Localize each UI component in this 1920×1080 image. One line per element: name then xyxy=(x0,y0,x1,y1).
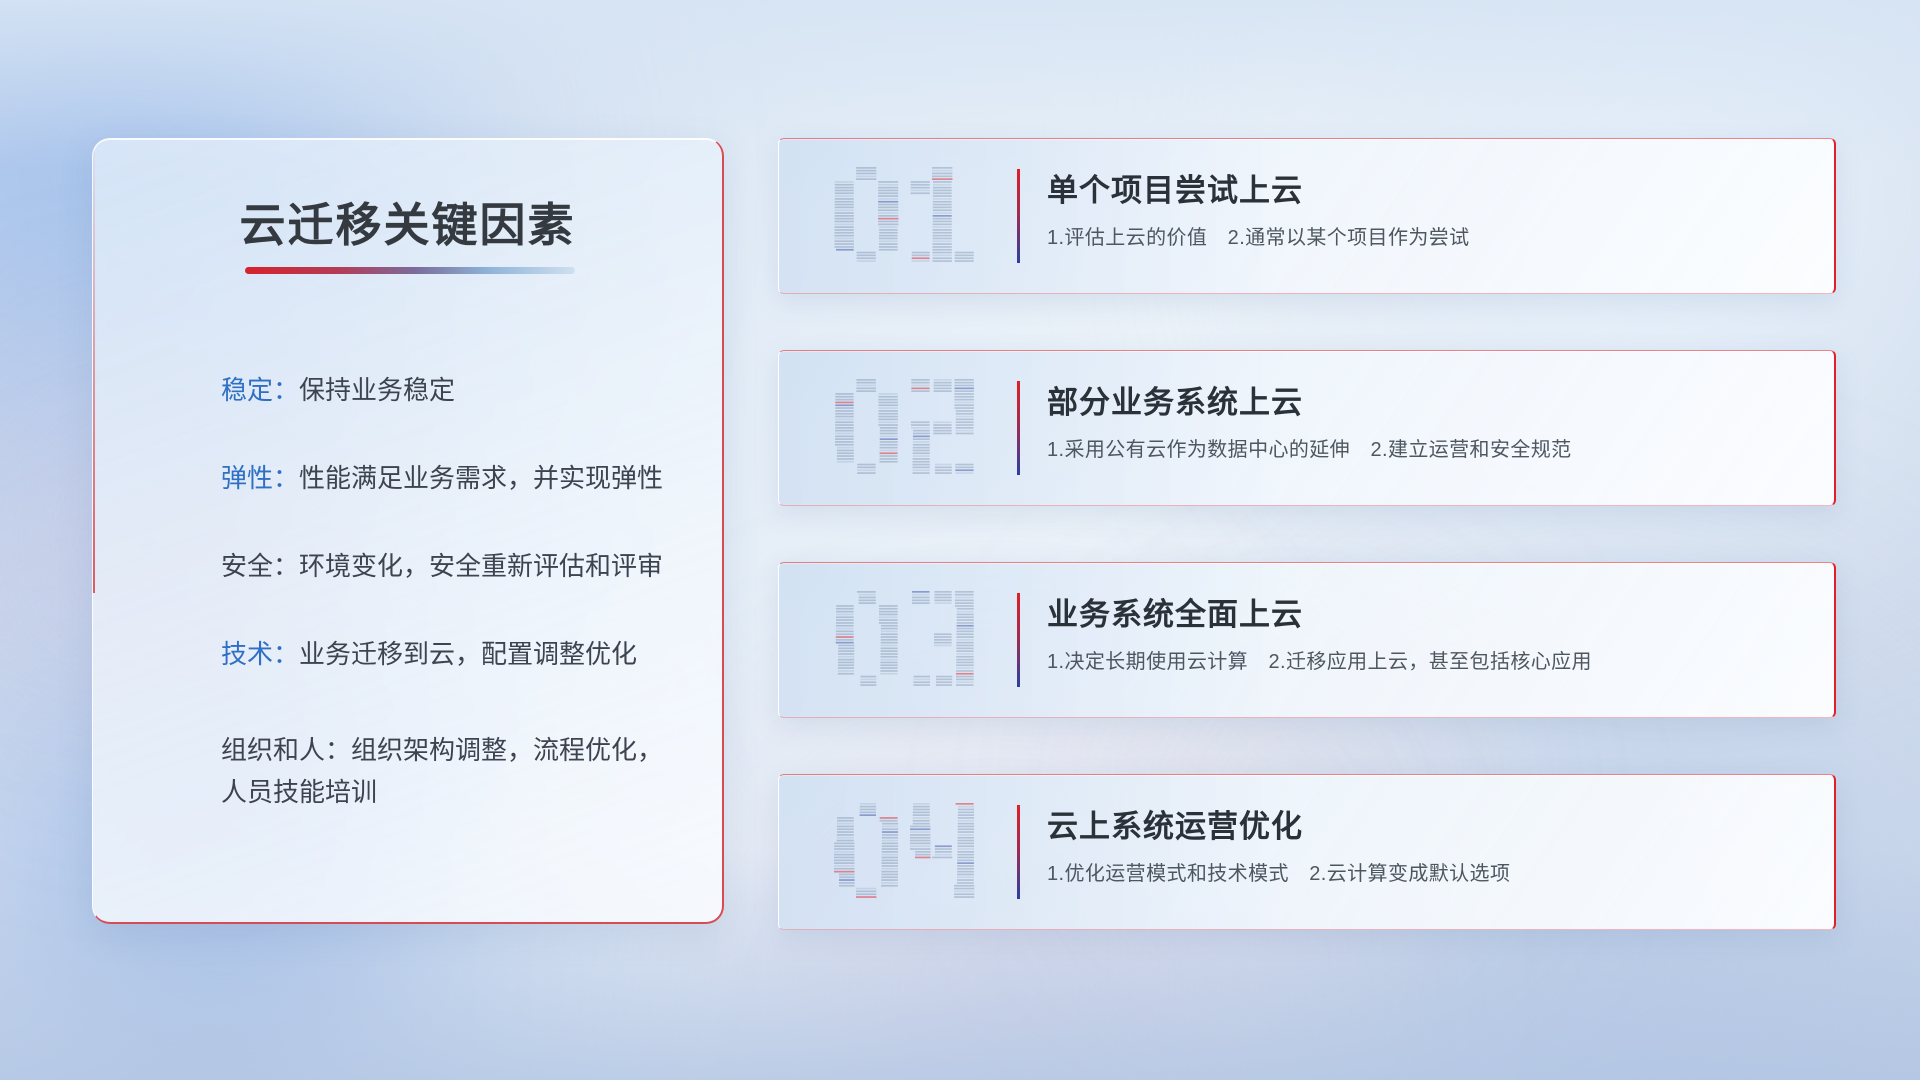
card-title: 业务系统全面上云 xyxy=(1047,597,1804,633)
key-factor-label: 技术： xyxy=(221,639,299,669)
card-title: 云上系统运营优化 xyxy=(1047,809,1804,845)
key-factor-item: 安全：环境变化，安全重新评估和评审 xyxy=(221,553,682,579)
card-body: 部分业务系统上云 1.采用公有云作为数据中心的延伸 2.建立运营和安全规范 xyxy=(1047,385,1804,463)
key-factor-item: 稳定：保持业务稳定 xyxy=(221,377,682,403)
slide-stage: 云迁移关键因素 稳定：保持业务稳定弹性：性能满足业务需求，并实现弹性安全：环境变… xyxy=(0,0,1920,1080)
key-factor-text: 性能满足业务需求，并实现弹性 xyxy=(299,463,663,493)
number-01-glyph xyxy=(815,161,995,271)
key-factor-text: 环境变化，安全重新评估和评审 xyxy=(299,551,663,581)
number-02-glyph xyxy=(815,373,995,483)
stage-card[interactable]: 部分业务系统上云 1.采用公有云作为数据中心的延伸 2.建立运营和安全规范 xyxy=(778,350,1836,506)
card-body: 云上系统运营优化 1.优化运营模式和技术模式 2.云计算变成默认选项 xyxy=(1047,809,1804,887)
key-factor-label: 组织和人： xyxy=(221,735,351,765)
card-body: 业务系统全面上云 1.决定长期使用云计算 2.迁移应用上云，甚至包括核心应用 xyxy=(1047,597,1804,675)
card-title: 部分业务系统上云 xyxy=(1047,385,1804,421)
number-03-glyph xyxy=(815,585,995,695)
card-accent-divider xyxy=(1017,169,1020,263)
card-body: 单个项目尝试上云 1.评估上云的价值 2.通常以某个项目作为尝试 xyxy=(1047,173,1804,251)
key-factor-label: 稳定： xyxy=(221,375,299,405)
key-factor-label: 安全： xyxy=(221,551,299,581)
stage-number-watermark xyxy=(815,797,995,907)
key-factor-item: 弹性：性能满足业务需求，并实现弹性 xyxy=(221,465,682,491)
card-description: 1.采用公有云作为数据中心的延伸 2.建立运营和安全规范 xyxy=(1047,437,1804,463)
stage-number-watermark xyxy=(815,161,995,271)
key-factors-panel: 云迁移关键因素 稳定：保持业务稳定弹性：性能满足业务需求，并实现弹性安全：环境变… xyxy=(92,138,724,924)
stage-number-watermark xyxy=(815,373,995,483)
key-factors-list: 稳定：保持业务稳定弹性：性能满足业务需求，并实现弹性安全：环境变化，安全重新评估… xyxy=(221,377,682,875)
card-description: 1.评估上云的价值 2.通常以某个项目作为尝试 xyxy=(1047,225,1804,251)
card-description: 1.优化运营模式和技术模式 2.云计算变成默认选项 xyxy=(1047,861,1804,887)
panel-title: 云迁移关键因素 xyxy=(93,189,722,255)
key-factor-label: 弹性： xyxy=(221,463,299,493)
card-accent-divider xyxy=(1017,381,1020,475)
card-accent-divider xyxy=(1017,593,1020,687)
stage-card[interactable]: 业务系统全面上云 1.决定长期使用云计算 2.迁移应用上云，甚至包括核心应用 xyxy=(778,562,1836,718)
card-accent-divider xyxy=(1017,805,1020,899)
panel-title-underline xyxy=(245,267,575,274)
card-title: 单个项目尝试上云 xyxy=(1047,173,1804,209)
stage-number-watermark xyxy=(815,585,995,695)
key-factor-text: 业务迁移到云，配置调整优化 xyxy=(299,639,637,669)
card-description: 1.决定长期使用云计算 2.迁移应用上云，甚至包括核心应用 xyxy=(1047,649,1804,675)
key-factor-text: 保持业务稳定 xyxy=(299,375,455,405)
key-factor-item: 技术：业务迁移到云，配置调整优化 xyxy=(221,641,682,667)
key-factor-item: 组织和人：组织架构调整，流程优化，人员技能培训 xyxy=(221,729,682,813)
number-04-glyph xyxy=(815,797,995,907)
stage-card[interactable]: 云上系统运营优化 1.优化运营模式和技术模式 2.云计算变成默认选项 xyxy=(778,774,1836,930)
stage-card[interactable]: 单个项目尝试上云 1.评估上云的价值 2.通常以某个项目作为尝试 xyxy=(778,138,1836,294)
